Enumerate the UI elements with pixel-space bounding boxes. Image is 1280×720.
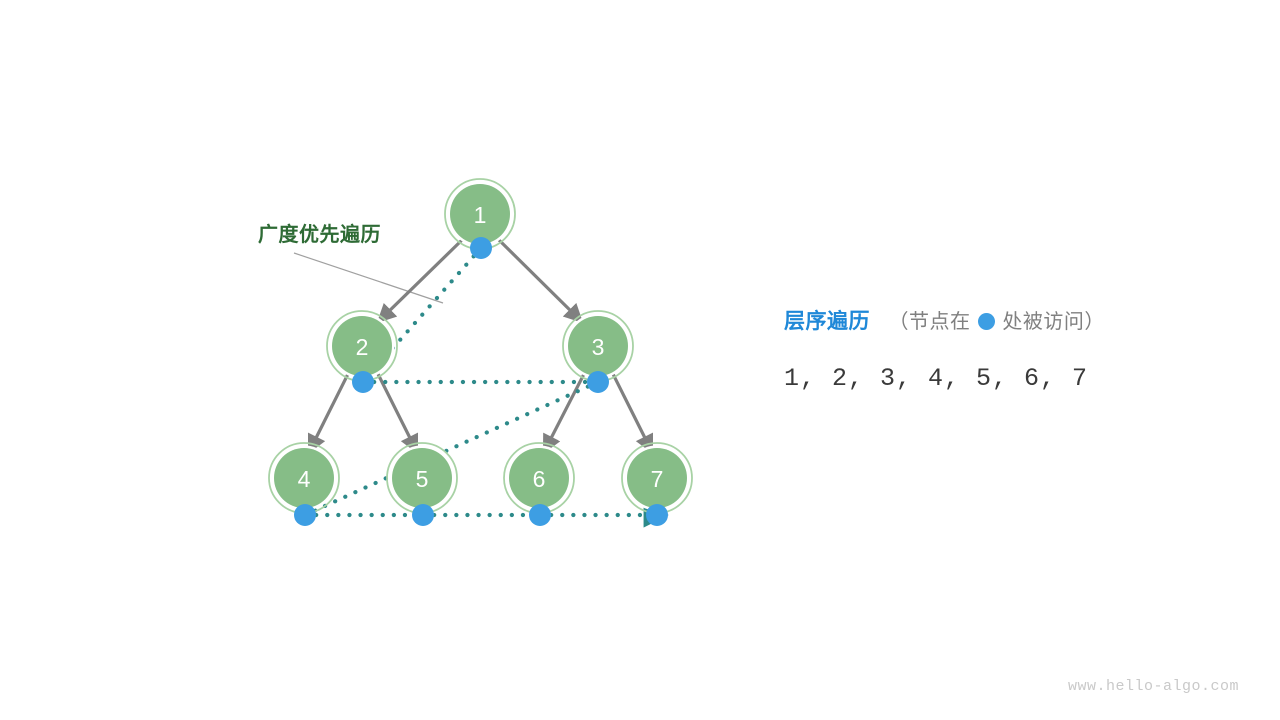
tree-edge [499, 240, 580, 320]
visit-dot-5[interactable] [412, 504, 434, 526]
legend-block: 层序遍历 （节点在 处被访问） [784, 305, 1105, 335]
tree-node-2[interactable]: 2 [327, 311, 397, 381]
legend-title: 层序遍历 [784, 310, 870, 333]
tree-node-3[interactable]: 3 [563, 311, 633, 381]
visit-dot-4[interactable] [294, 504, 316, 526]
node-value-label: 2 [356, 334, 369, 360]
legend-note-after: 处被访问） [1002, 311, 1105, 333]
annotation-leader-line [294, 253, 443, 303]
visit-dot-6[interactable] [529, 504, 551, 526]
node-value-label: 7 [651, 466, 664, 492]
tree-edge [378, 374, 416, 450]
traversal-sequence: 1, 2, 3, 4, 5, 6, 7 [784, 364, 1088, 393]
node-value-label: 6 [533, 466, 546, 492]
bfs-annotation-label: 广度优先遍历 [258, 218, 381, 247]
node-value-label: 5 [416, 466, 429, 492]
tree-node-5[interactable]: 5 [387, 443, 457, 513]
visit-dot-7[interactable] [646, 504, 668, 526]
visit-dot-1[interactable] [470, 237, 492, 259]
node-value-label: 3 [592, 334, 605, 360]
diagram-canvas: 1234567 广度优先遍历 层序遍历 （节点在 处被访问） 1, 2, 3, … [0, 0, 1280, 720]
tree-node-4[interactable]: 4 [269, 443, 339, 513]
tree-node-6[interactable]: 6 [504, 443, 574, 513]
visit-dots-group [294, 237, 668, 526]
site-watermark: www.hello-algo.com [1068, 678, 1239, 695]
binary-tree-bfs-svg: 1234567 [0, 0, 1280, 720]
visit-dot-3[interactable] [587, 371, 609, 393]
node-value-label: 1 [474, 202, 487, 228]
legend-note-before: （节点在 [888, 311, 970, 333]
leader-line-group [294, 253, 443, 303]
tree-edge [380, 240, 462, 320]
node-value-label: 4 [298, 466, 311, 492]
tree-edge [545, 374, 584, 450]
visit-marker-icon [978, 313, 995, 330]
tree-edge [613, 374, 651, 450]
tree-edge [310, 374, 348, 450]
tree-node-7[interactable]: 7 [622, 443, 692, 513]
visit-dot-2[interactable] [352, 371, 374, 393]
